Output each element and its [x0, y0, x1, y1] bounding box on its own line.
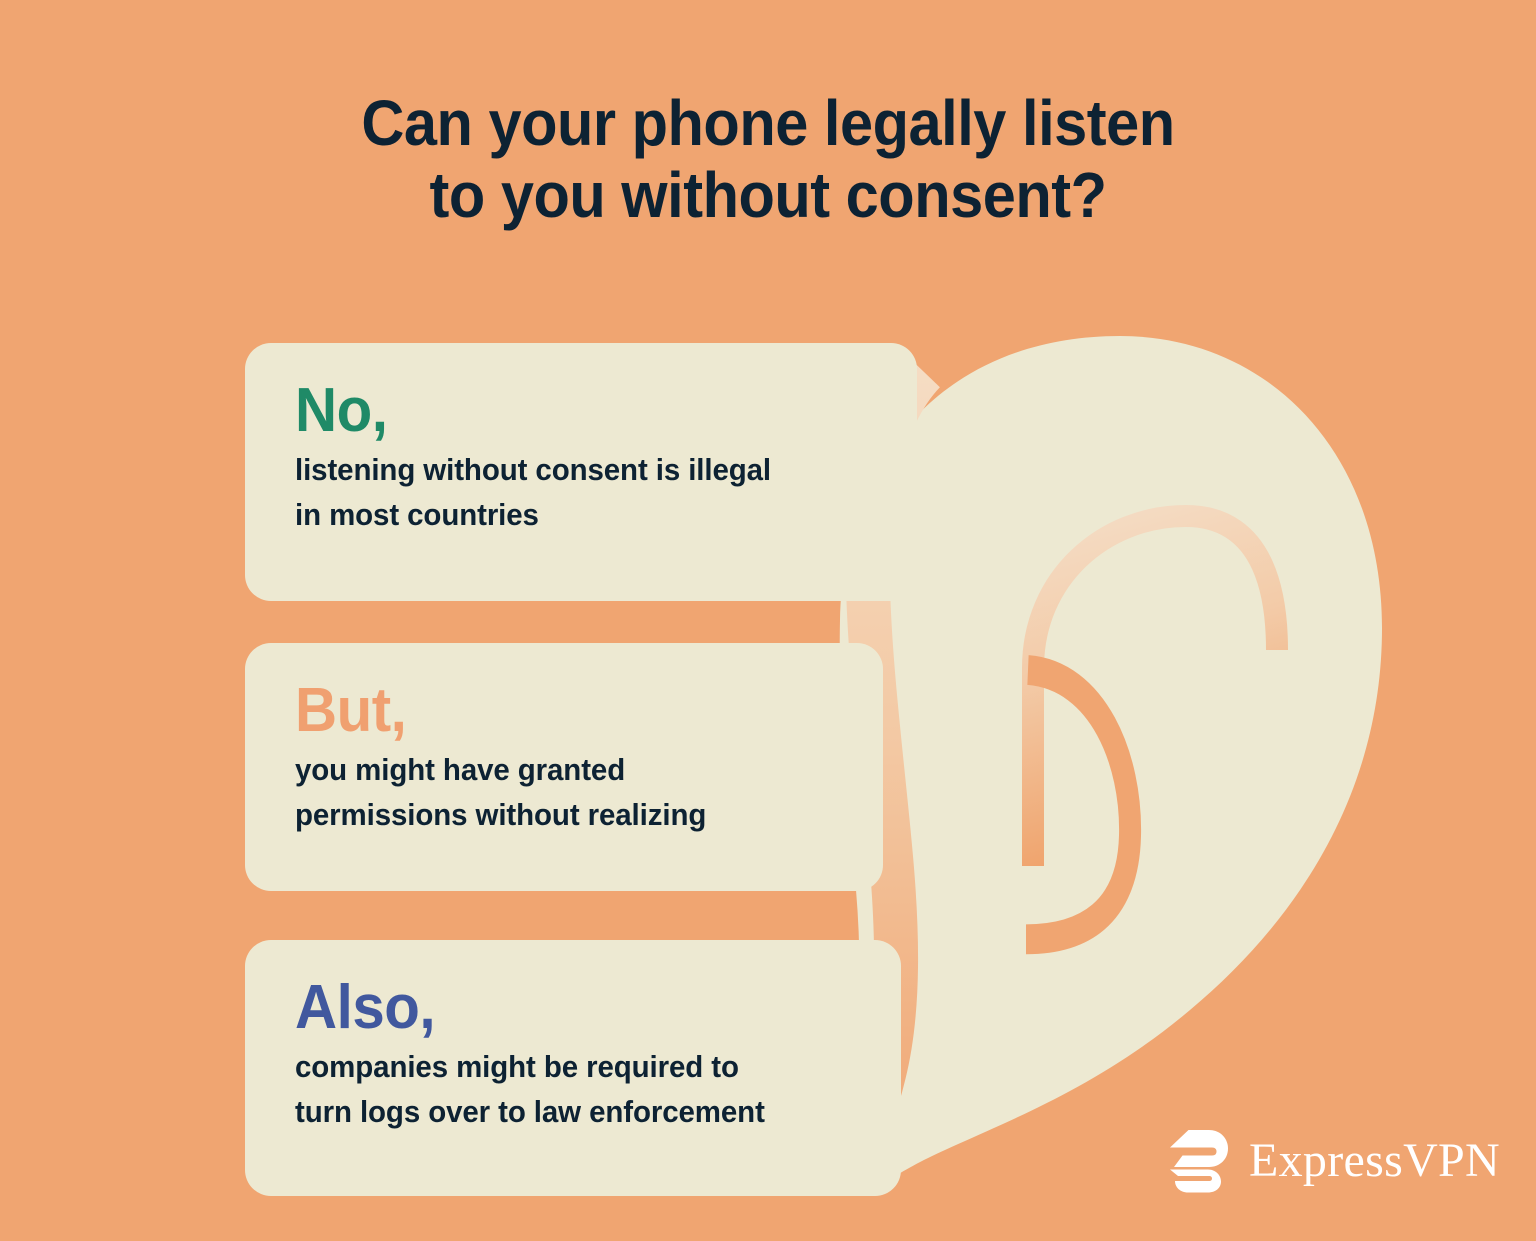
fact-card-also: Also, companies might be required to tur…: [245, 940, 901, 1196]
ear-outer-shape: [840, 336, 1382, 1196]
card-body-no: listening without consent is illegal in …: [295, 447, 844, 538]
fact-card-no: No, listening without consent is illegal…: [245, 343, 917, 601]
infographic-canvas: Can your phone legally listen to you wit…: [0, 0, 1536, 1241]
card-body-line-1: listening without consent is illegal: [295, 447, 844, 492]
card-lead-no: No,: [295, 381, 838, 441]
title-line-1: Can your phone legally listen: [54, 88, 1482, 160]
expressvpn-wordmark: ExpressVPN: [1249, 1137, 1500, 1185]
expressvpn-e-mark-icon: [1168, 1128, 1232, 1194]
expressvpn-logo[interactable]: ExpressVPN: [1168, 1128, 1500, 1194]
card-body-line-1: companies might be required to: [295, 1044, 829, 1089]
page-title: Can your phone legally listen to you wit…: [54, 88, 1482, 231]
card-body-line-1: you might have granted: [295, 747, 812, 792]
card-body-line-2: in most countries: [295, 492, 844, 537]
card-lead-but: But,: [295, 681, 806, 741]
card-body-line-2: turn logs over to law enforcement: [295, 1089, 829, 1134]
card-body-line-2: permissions without realizing: [295, 792, 812, 837]
ear-antihelix-arc: [1030, 516, 1278, 880]
ear-concha-arc: [1026, 670, 1130, 939]
card-body-also: companies might be required to turn logs…: [295, 1044, 829, 1135]
card-lead-also: Also,: [295, 978, 823, 1038]
fact-card-but: But, you might have granted permissions …: [245, 643, 883, 891]
title-line-2: to you without consent?: [54, 160, 1482, 232]
card-body-but: you might have granted permissions witho…: [295, 747, 812, 838]
